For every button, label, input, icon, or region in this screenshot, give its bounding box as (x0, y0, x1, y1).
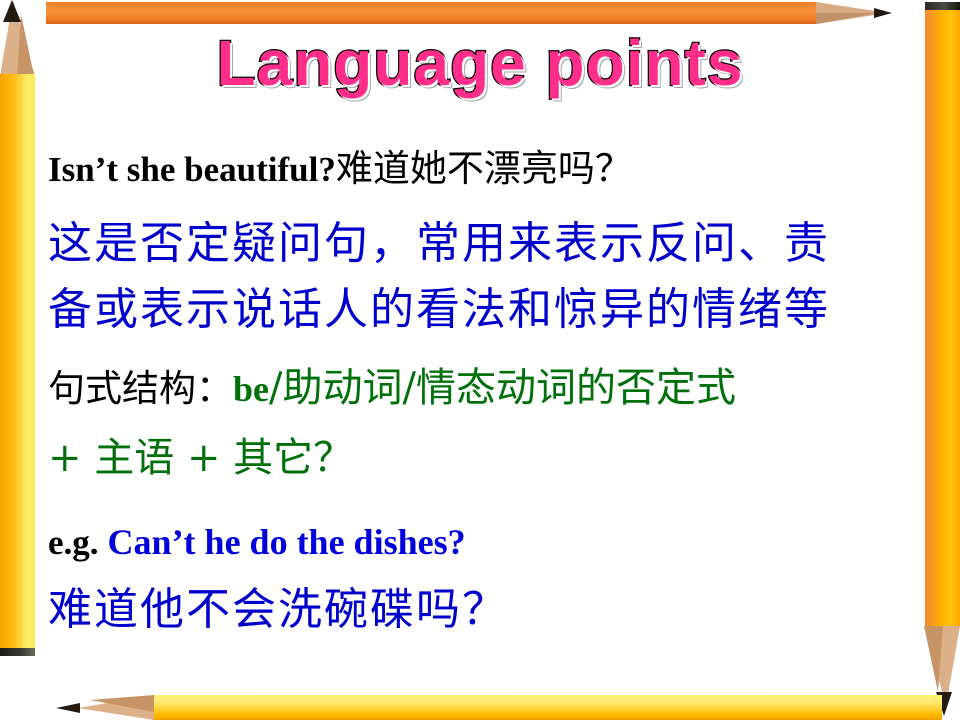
slide-title: Language points (0, 26, 960, 100)
question-english: Isn’t she beautiful? (48, 150, 336, 189)
slide-content: Language points Isn’t she beautiful?难道她不… (0, 0, 960, 720)
slide-canvas: Language points Isn’t she beautiful?难道她不… (0, 0, 960, 720)
text-line-structure-label: 句式结构：be/助动词/情态动词的否定式 (48, 368, 736, 408)
explanation-chinese-line2: 备或表示说话人的看法和惊异的情绪等 (48, 284, 830, 335)
text-line-example: e.g. Can’t he do the dishes? (48, 524, 466, 560)
text-line-explanation-part1: 这是否定疑问句，常用来表示反问、责 (48, 222, 830, 266)
explanation-chinese-line1: 这是否定疑问句，常用来表示反问、责 (48, 218, 830, 269)
text-line-structure-continued: + 主语 + 其它？ (48, 438, 353, 478)
structure-continued: + 主语 + 其它？ (48, 435, 353, 481)
structure-label: 句式结构： (48, 367, 233, 410)
structure-be-keyword: be (233, 369, 269, 409)
example-label: e.g. (48, 523, 99, 562)
text-line-example-translation: 难道他不会洗碗碟吗？ (48, 588, 508, 632)
question-chinese: 难道她不漂亮吗？ (336, 147, 632, 190)
example-sentence: Can’t he do the dishes? (99, 522, 466, 562)
text-line-question-en-cn: Isn’t she beautiful?难道她不漂亮吗？ (48, 150, 632, 187)
structure-chinese: /助动词/情态动词的否定式 (269, 365, 736, 411)
example-translation-chinese: 难道他不会洗碗碟吗？ (48, 584, 508, 635)
text-line-explanation-part2: 备或表示说话人的看法和惊异的情绪等 (48, 288, 830, 332)
